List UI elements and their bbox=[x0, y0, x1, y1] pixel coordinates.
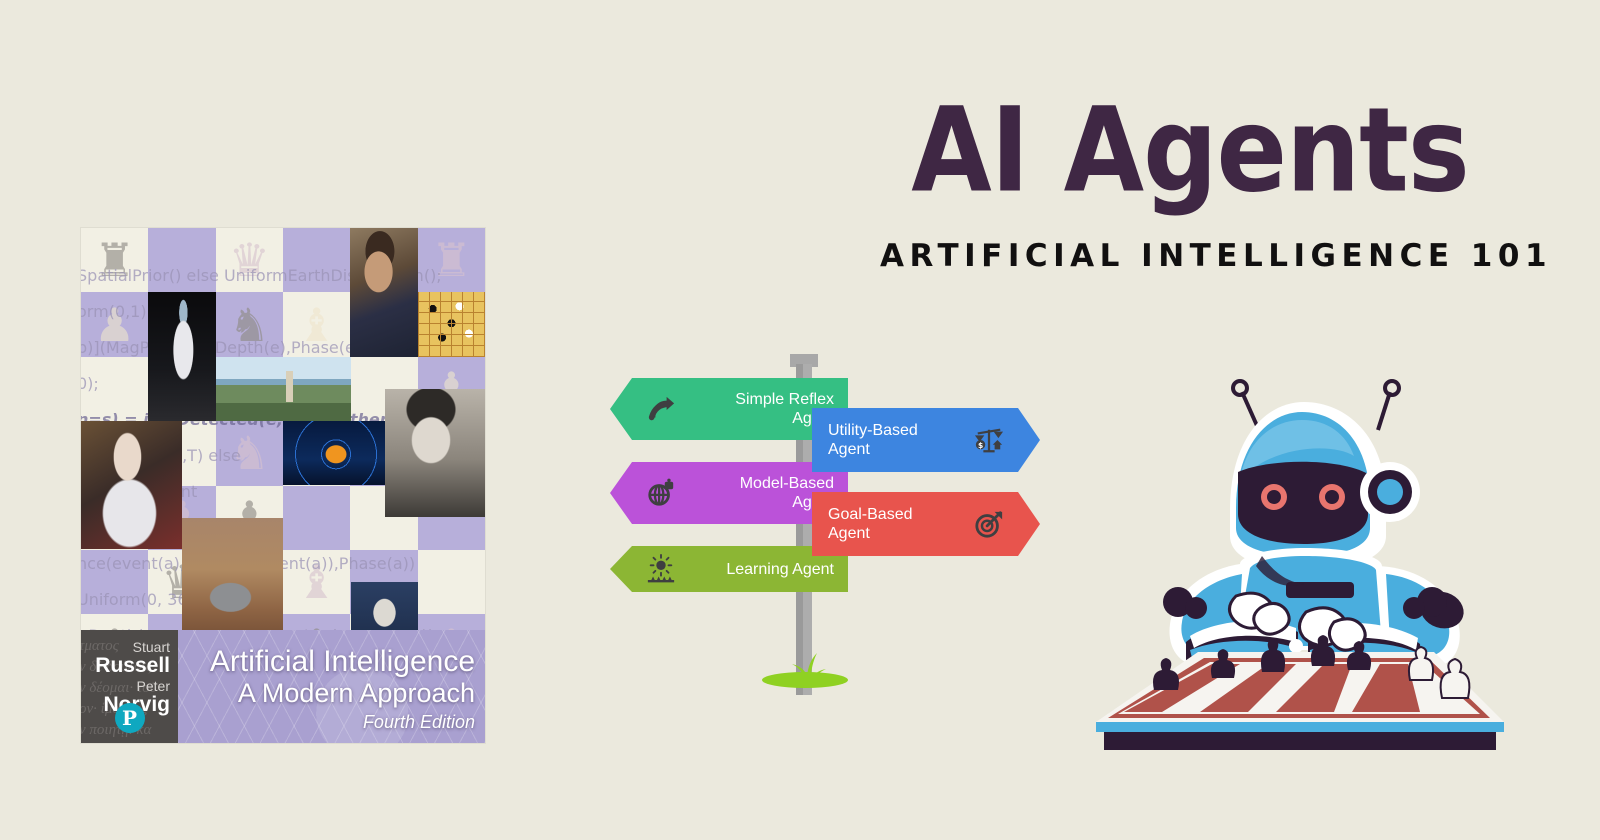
book-author-panel: τματοςν δὲ δούλοιςν δέομαι· τοῦον· ἱματί… bbox=[81, 630, 178, 743]
board-square: ♟ bbox=[81, 292, 148, 356]
svg-text:$: $ bbox=[978, 441, 983, 450]
board-square bbox=[81, 357, 148, 421]
board-square: ♞ bbox=[216, 421, 283, 485]
self-driving-car-hud-photo bbox=[283, 421, 385, 485]
board-square bbox=[81, 550, 148, 614]
atlas-robot-photo bbox=[148, 292, 216, 421]
chess-piece-glyph: ♜ bbox=[94, 237, 135, 283]
board-square: ♜ bbox=[418, 228, 485, 292]
agent-types-signpost: Simple ReflexAgent Model-BasedAgent bbox=[600, 350, 1000, 695]
title-block: AI Agents ARTIFICIAL INTELLIGENCE 101 bbox=[880, 92, 1500, 274]
board-square: ♜ bbox=[81, 228, 148, 292]
chess-playing-robot-illustration bbox=[1090, 350, 1510, 750]
book-title-line-1: Artificial Intelligence bbox=[185, 646, 475, 678]
board-square: ♞ bbox=[216, 292, 283, 356]
pearson-logo: P bbox=[115, 703, 145, 733]
sign-label: Utility-BasedAgent bbox=[828, 421, 966, 459]
chess-piece-glyph: ♝ bbox=[296, 559, 337, 605]
board-square: ♛ bbox=[216, 228, 283, 292]
mars-rover-photo bbox=[182, 518, 283, 646]
balance-scale-icon: $ bbox=[972, 423, 1006, 457]
page-title: AI Agents bbox=[880, 92, 1500, 208]
author-1-last: Russell bbox=[95, 655, 170, 677]
board-square: ♝ bbox=[283, 292, 350, 356]
chess-piece-glyph: ♜ bbox=[431, 237, 472, 283]
board-square bbox=[418, 550, 485, 614]
sign-label: Model-BasedAgent bbox=[684, 474, 834, 512]
go-board-photo bbox=[418, 292, 485, 357]
poster-canvas: AI Agents ARTIFICIAL INTELLIGENCE 101 ♜♛… bbox=[0, 0, 1600, 840]
chess-piece-glyph: ♟ bbox=[94, 302, 135, 348]
berkeley-campanile-photo bbox=[216, 357, 351, 421]
sign-label: Learning Agent bbox=[684, 560, 834, 579]
book-edition: Fourth Edition bbox=[185, 709, 475, 735]
alan-turing-photo bbox=[385, 389, 485, 517]
book-cover-title: Artificial Intelligence A Modern Approac… bbox=[185, 646, 475, 735]
aima-book-cover: ♜♛♜♟♞♝♟♝♟♟♞♟♟♟♛♞♝♟♟♟♟♜♝ SpatialPrior() e… bbox=[81, 228, 485, 743]
sign-label: Goal-BasedAgent bbox=[828, 505, 966, 543]
sun-seedling-icon bbox=[644, 552, 678, 586]
board-square: ♝ bbox=[283, 550, 350, 614]
sign-goal-based-agent[interactable]: Goal-BasedAgent bbox=[812, 492, 1040, 556]
chess-piece-glyph: ♛ bbox=[229, 237, 270, 283]
globe-model-icon bbox=[644, 476, 678, 510]
board-square bbox=[148, 228, 215, 292]
kasparov-chess-photo bbox=[350, 228, 418, 357]
board-square bbox=[283, 228, 350, 292]
author-2-first: Peter bbox=[95, 679, 170, 694]
chess-piece-glyph: ♞ bbox=[229, 430, 270, 476]
sign-utility-based-agent[interactable]: Utility-BasedAgent $ bbox=[812, 408, 1040, 472]
grass-patch bbox=[762, 672, 848, 688]
author-1-first: Stuart bbox=[95, 640, 170, 655]
ada-lovelace-portrait bbox=[81, 421, 182, 549]
chess-piece-glyph: ♝ bbox=[296, 302, 337, 348]
target-arrow-icon bbox=[972, 507, 1006, 541]
page-subtitle: ARTIFICIAL INTELLIGENCE 101 bbox=[880, 238, 1500, 274]
chess-piece-glyph: ♞ bbox=[229, 302, 270, 348]
reflex-arrow-icon bbox=[644, 392, 678, 426]
sign-label: Simple ReflexAgent bbox=[684, 390, 834, 428]
board-square bbox=[283, 486, 350, 550]
book-title-line-2: A Modern Approach bbox=[185, 678, 475, 709]
